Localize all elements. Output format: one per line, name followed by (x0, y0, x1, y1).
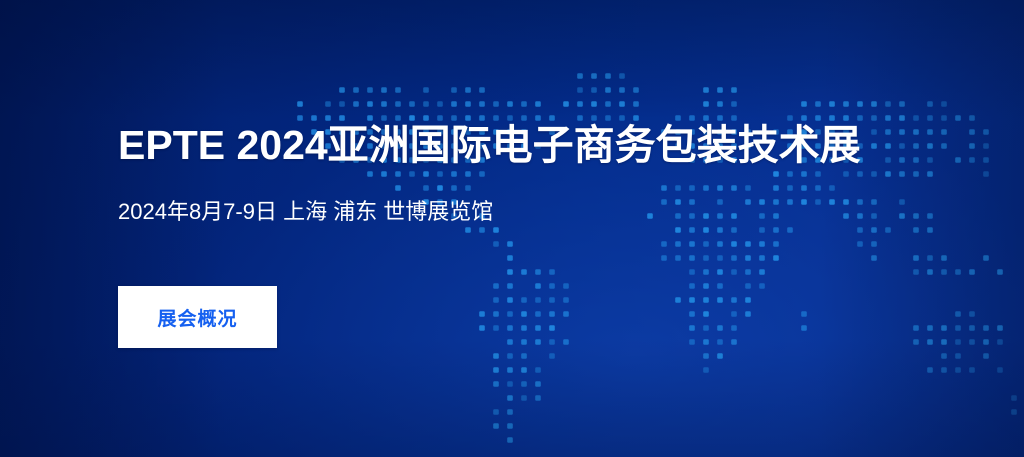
event-hero-banner: EPTE 2024亚洲国际电子商务包装技术展 2024年8月7-9日 上海 浦东… (0, 0, 1024, 457)
banner-subtitle: 2024年8月7-9日 上海 浦东 世博展览馆 (118, 197, 493, 227)
banner-title: EPTE 2024亚洲国际电子商务包装技术展 (118, 120, 861, 170)
exhibition-overview-button[interactable]: 展会概况 (118, 286, 277, 348)
exhibition-overview-button-label: 展会概况 (157, 304, 237, 331)
banner-content: EPTE 2024亚洲国际电子商务包装技术展 2024年8月7-9日 上海 浦东… (0, 0, 1024, 457)
